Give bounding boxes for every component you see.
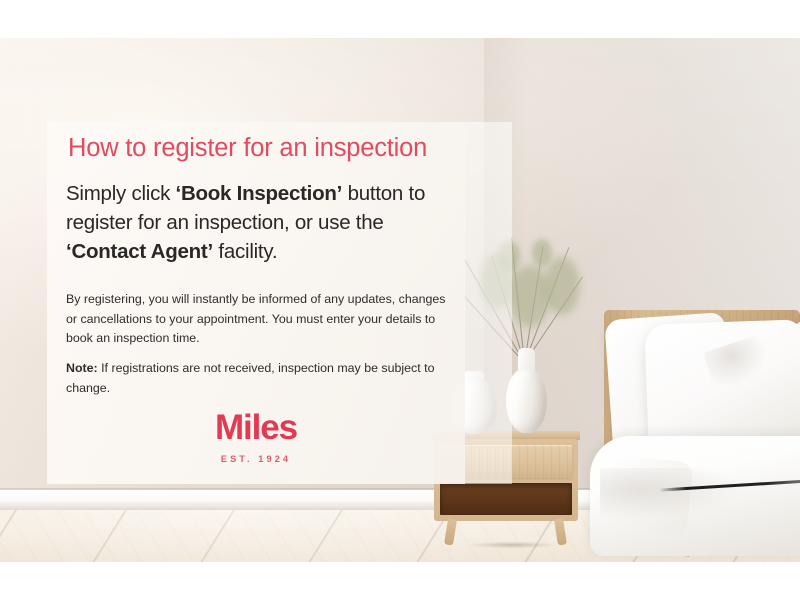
registration-info-paragraph: By registering, you will instantly be in… [66, 290, 448, 349]
note-paragraph: Note: If registrations are not received,… [66, 359, 448, 398]
miles-logo: Miles EST. 1924 [47, 410, 465, 464]
instruction-text: Simply click ‘Book Inspection’ button to… [66, 179, 458, 266]
panel-translucent-edge [464, 122, 512, 484]
note-text: If registrations are not received, inspe… [66, 361, 434, 395]
contact-agent-label: ‘Contact Agent’ [66, 240, 213, 263]
logo-wordmark: Miles [47, 410, 465, 445]
nightstand-open-shelf [440, 483, 572, 515]
instruction-lead: Simply click [66, 182, 176, 205]
letterbox-bottom [0, 562, 800, 600]
tall-vase [506, 369, 547, 433]
note-label: Note: [66, 361, 98, 375]
letterbox-top [0, 0, 800, 38]
bedroom-photo: How to register for an inspection Simply… [0, 38, 800, 562]
logo-established: EST. 1924 [47, 454, 465, 464]
instruction-tail: facility. [213, 240, 277, 263]
nightstand-shadow [450, 541, 574, 549]
duvet-shading [600, 468, 800, 538]
screenshot-stage: How to register for an inspection Simply… [0, 0, 800, 600]
page-title: How to register for an inspection [68, 134, 448, 162]
info-panel: How to register for an inspection Simply… [47, 122, 465, 484]
book-inspection-label: ‘Book Inspection’ [176, 182, 343, 205]
